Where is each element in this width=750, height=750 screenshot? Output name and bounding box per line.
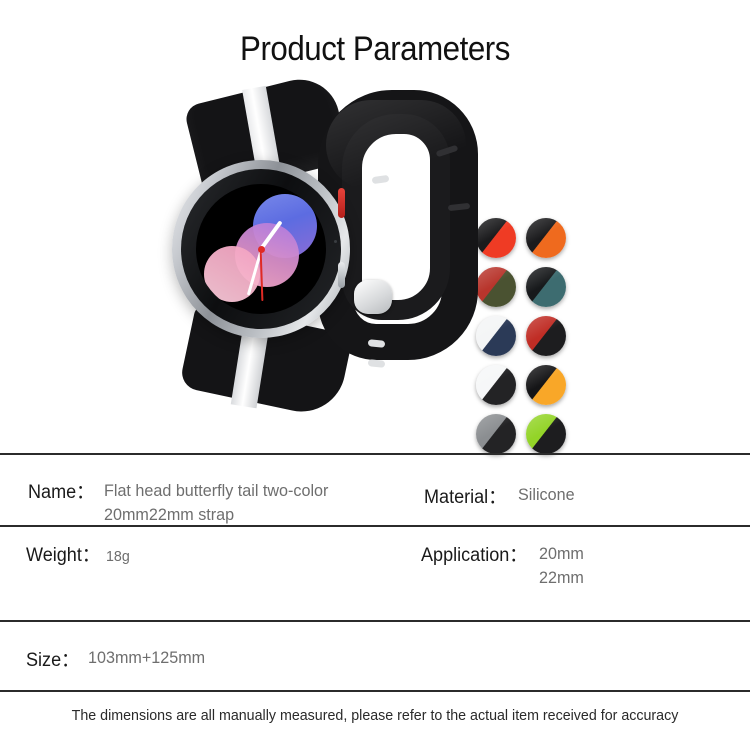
spec-label-name: Name：: [28, 477, 94, 504]
spec-label-material: Material：: [424, 482, 506, 509]
spec-row-size: Size： 103mm+125mm: [26, 645, 211, 672]
footer-disclaimer: The dimensions are all manually measured…: [19, 707, 732, 724]
color-swatch-black-teal[interactable]: [526, 267, 566, 307]
spec-row-weight: Weight： 18g: [26, 540, 131, 569]
watch-case: [172, 160, 350, 338]
smartwatch-illustration: [150, 80, 480, 440]
page-title: Product Parameters: [30, 30, 720, 69]
spec-row-name: Name： Flat head butterfly tail two-color…: [28, 477, 404, 527]
table-divider: [0, 690, 750, 692]
spec-label-weight: Weight：: [26, 540, 100, 567]
watch-side-button: [338, 262, 345, 288]
spec-value-weight: 18g: [106, 545, 130, 569]
color-swatch-black-orange[interactable]: [526, 218, 566, 258]
spec-row-application: Application： 20mm 22mm: [421, 540, 586, 590]
product-parameters-page: Product Parameters: [0, 0, 750, 750]
spec-value-size: 103mm+125mm: [88, 646, 205, 670]
spec-label-application: Application：: [421, 540, 527, 567]
spec-label-size: Size：: [26, 645, 79, 672]
spec-value-application: 20mm 22mm: [539, 542, 584, 590]
color-swatch-red-black[interactable]: [526, 316, 566, 356]
strap-buckle-pin: [354, 280, 392, 314]
watch-microphone-hole: [334, 240, 337, 243]
spec-value-material: Silicone: [518, 483, 575, 507]
watch-screen: [196, 184, 326, 314]
color-swatch-black-yellow[interactable]: [526, 365, 566, 405]
color-swatch-green-black[interactable]: [526, 414, 566, 454]
color-swatch-gray-black[interactable]: [476, 414, 516, 454]
product-image-stage: [0, 80, 750, 440]
table-divider: [0, 453, 750, 455]
table-divider: [0, 620, 750, 622]
spec-row-material: Material： Silicone: [424, 482, 577, 509]
watchface-center-pivot: [258, 246, 265, 253]
color-swatch-grid: [476, 218, 568, 458]
watch-side-button-red: [338, 188, 345, 218]
strap-hole: [368, 359, 386, 368]
spec-value-name: Flat head butterfly tail two-color 20mm2…: [104, 479, 389, 527]
watch-bezel: [181, 169, 341, 329]
